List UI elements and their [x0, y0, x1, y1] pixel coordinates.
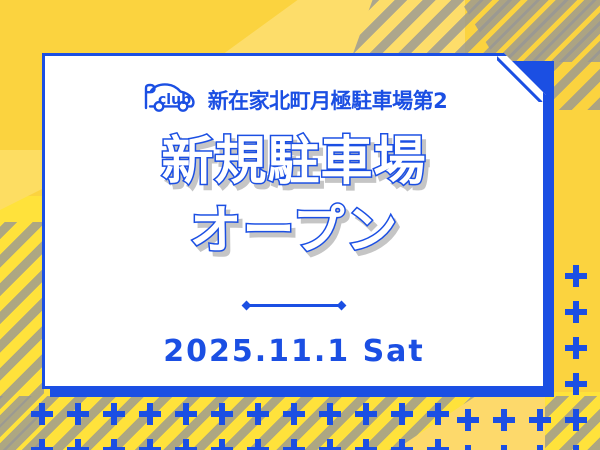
cross-icon	[211, 403, 233, 425]
cross-icon	[565, 409, 587, 431]
cross-icon	[175, 403, 197, 425]
cross-icon	[211, 439, 233, 450]
cross-icon	[565, 265, 587, 287]
cross-icon	[493, 445, 515, 450]
divider-diamond-left-icon	[242, 301, 252, 311]
headline-line-1: 新規駐車場	[45, 131, 543, 194]
cross-icon	[247, 403, 269, 425]
cross-icon	[139, 439, 161, 450]
diamond-rule-divider	[45, 302, 543, 309]
cross-icon	[529, 409, 551, 431]
cross-icon	[355, 439, 377, 450]
cross-icon	[247, 439, 269, 450]
poster-canvas: club 新在家北町月極駐車場第2 新規駐車場 オープン 2025.11.1 S…	[0, 0, 600, 450]
cross-icon	[427, 439, 449, 450]
cross-icon	[355, 403, 377, 425]
cross-icon	[103, 439, 125, 450]
divider-line	[250, 304, 338, 307]
cross-icon	[427, 403, 449, 425]
cross-icon	[457, 409, 479, 431]
cross-icon	[283, 439, 305, 450]
cross-icon	[319, 439, 341, 450]
open-date: 2025.11.1 Sat	[45, 334, 543, 369]
cross-icon	[103, 403, 125, 425]
cross-icon	[565, 337, 587, 359]
car-club-logo-icon: club	[141, 82, 197, 117]
cross-icon	[67, 439, 89, 450]
cross-icon	[175, 439, 197, 450]
headline-block: 新規駐車場 オープン	[45, 131, 543, 264]
cross-icon	[391, 403, 413, 425]
cross-icon	[31, 439, 53, 450]
cross-icon	[391, 439, 413, 450]
cross-icon	[283, 403, 305, 425]
cross-icon	[319, 403, 341, 425]
cross-icon	[67, 403, 89, 425]
cross-icon	[139, 403, 161, 425]
cross-icon	[565, 373, 587, 395]
card-header: club 新在家北町月極駐車場第2	[45, 82, 543, 117]
announcement-card: club 新在家北町月極駐車場第2 新規駐車場 オープン 2025.11.1 S…	[42, 53, 546, 389]
logo-wordmark: club	[158, 92, 191, 108]
divider-diamond-right-icon	[337, 301, 347, 311]
cross-icon	[565, 301, 587, 323]
cross-icon	[565, 445, 587, 450]
headline-line-2: オープン	[45, 200, 543, 263]
cross-icon	[493, 409, 515, 431]
site-title: 新在家北町月極駐車場第2	[208, 85, 448, 115]
cross-icon	[529, 445, 551, 450]
cross-icon	[31, 403, 53, 425]
cross-icon	[457, 445, 479, 450]
